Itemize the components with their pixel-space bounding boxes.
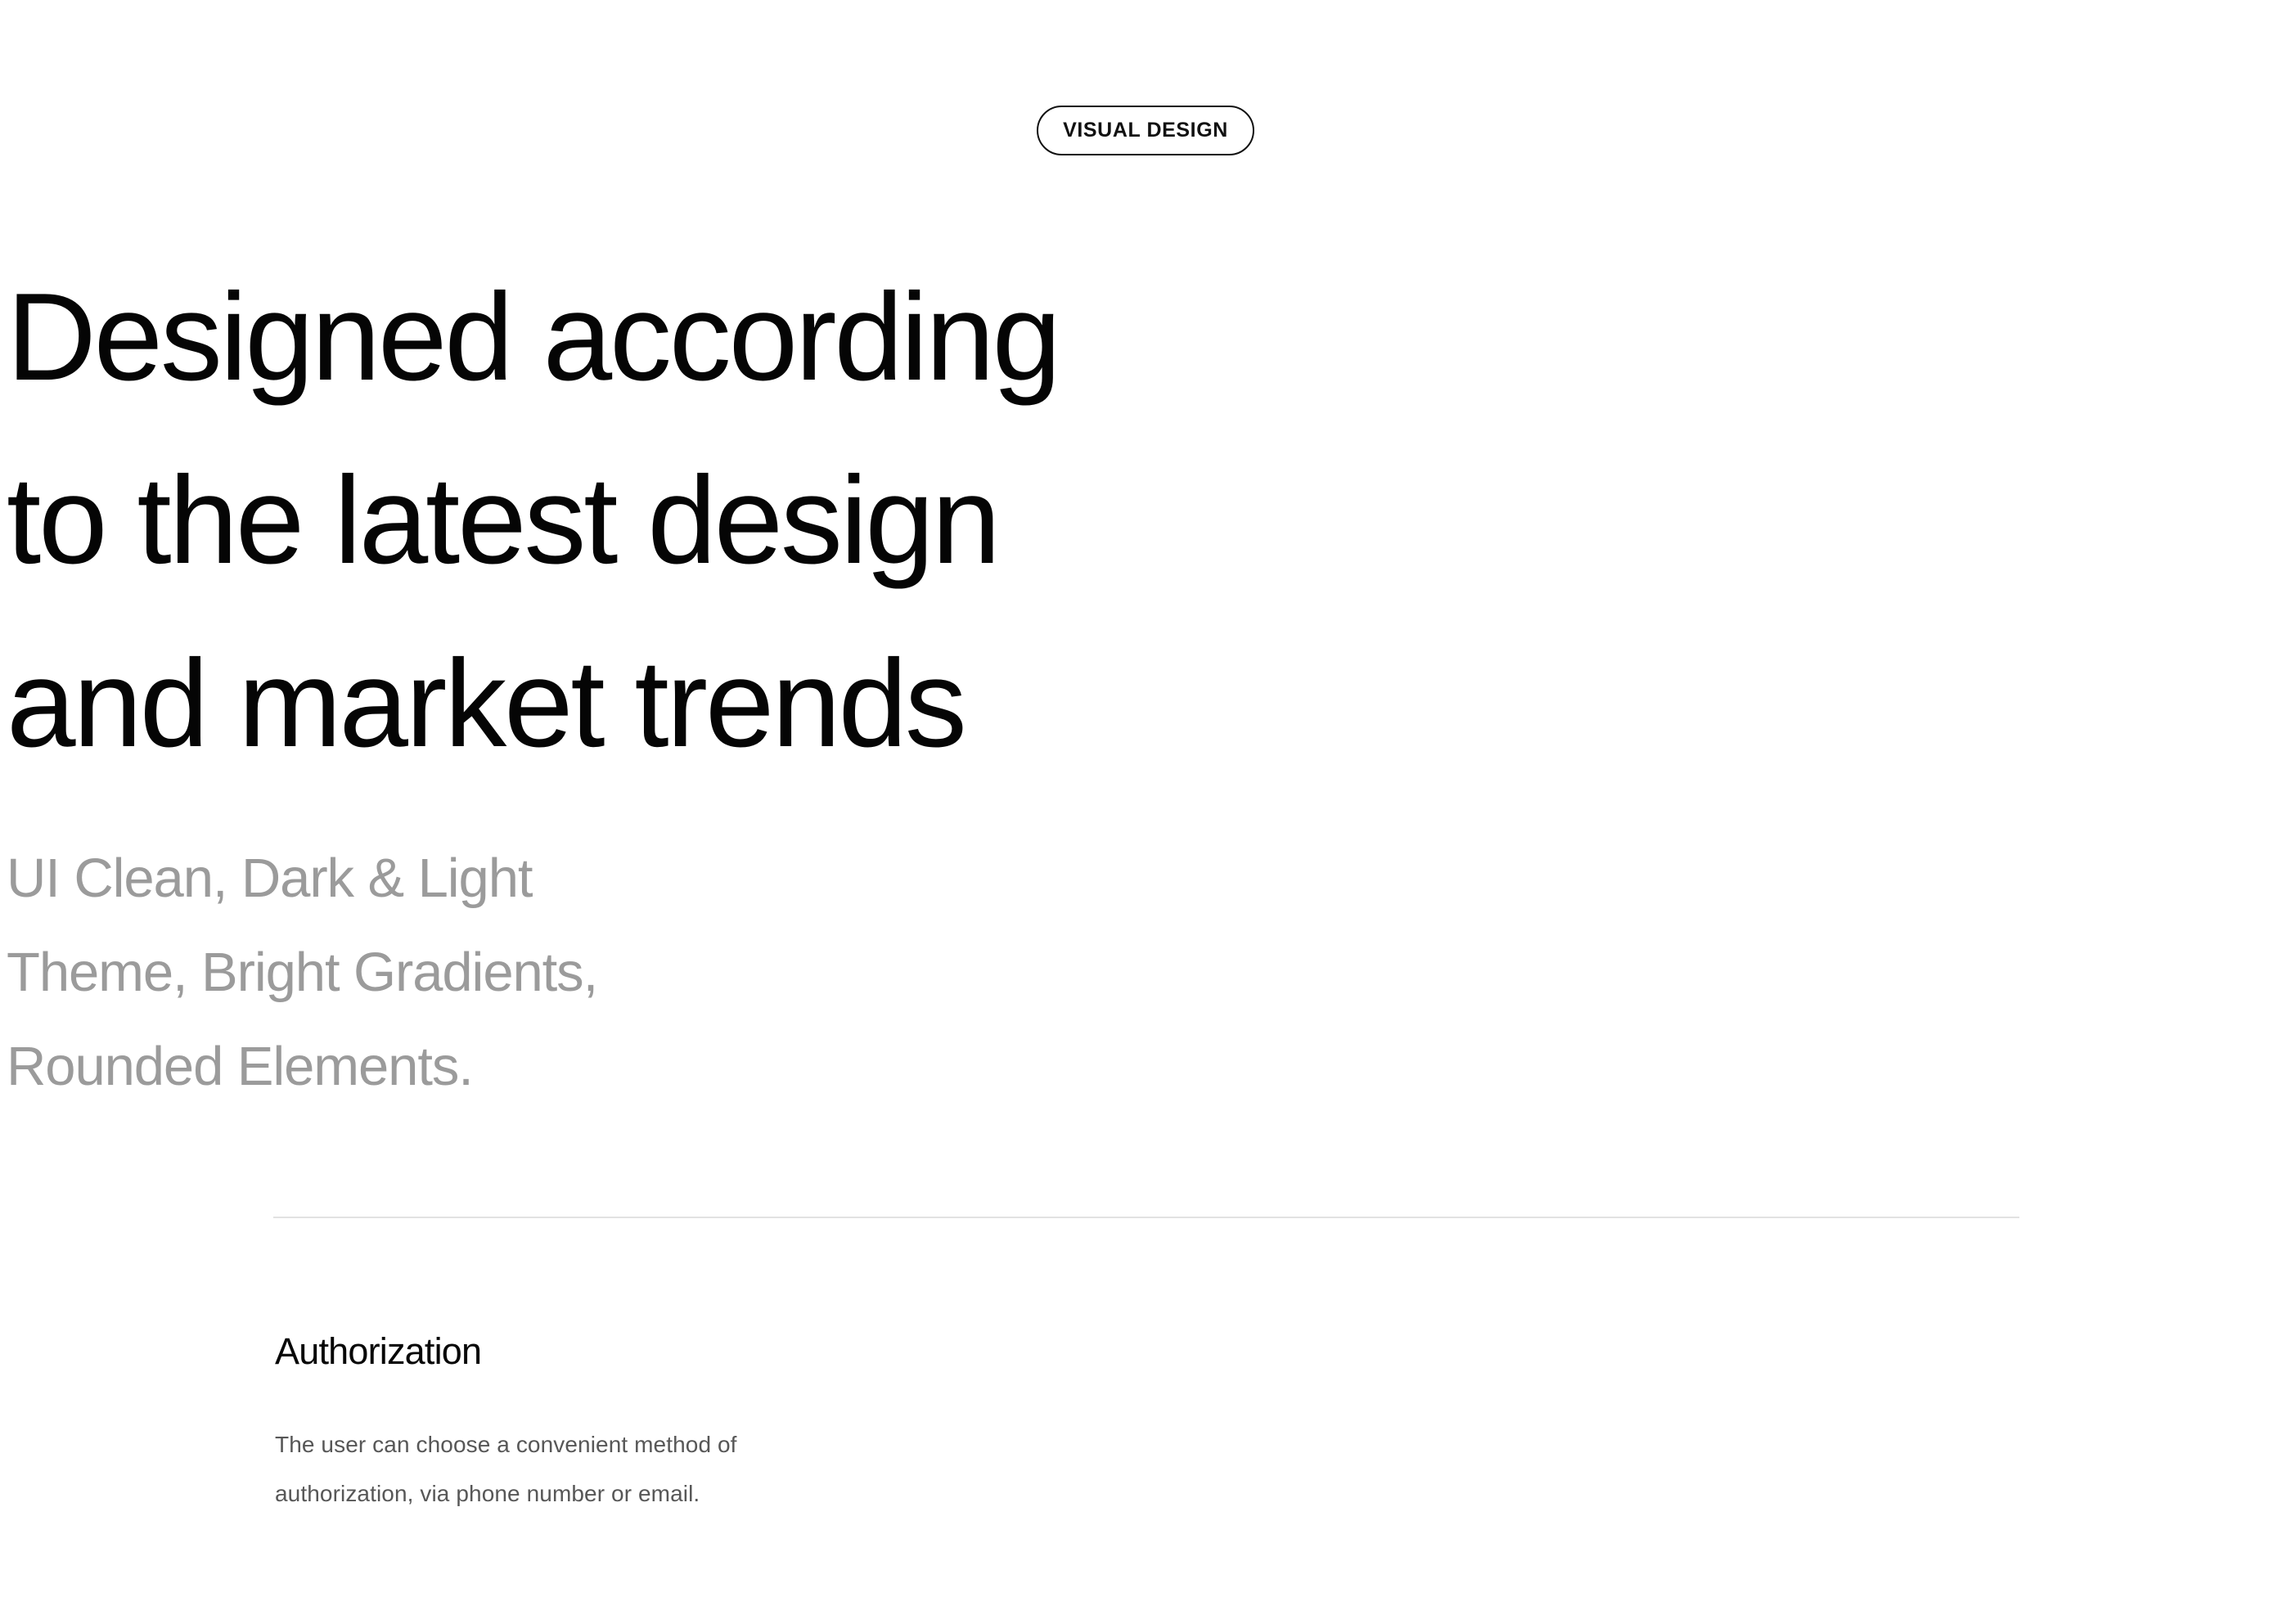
subtitle-line-2: Theme, Bright Gradients, bbox=[7, 925, 597, 1019]
authorization-section-body: The user can choose a convenient method … bbox=[275, 1420, 897, 1518]
headline-line-3: and market trends bbox=[7, 612, 1059, 795]
visual-design-badge[interactable]: VISUAL DESIGN bbox=[1037, 106, 1254, 155]
page-subtitle: UI Clean, Dark & Light Theme, Bright Gra… bbox=[7, 831, 597, 1113]
subtitle-line-1: UI Clean, Dark & Light bbox=[7, 831, 597, 925]
badge-row: VISUAL DESIGN bbox=[0, 106, 2291, 155]
visual-design-badge-label: VISUAL DESIGN bbox=[1063, 120, 1228, 141]
authorization-section-title: Authorization bbox=[275, 1329, 1257, 1374]
authorization-body-line-2: authorization, via phone number or email… bbox=[275, 1469, 897, 1518]
authorization-section: Authorization The user can choose a conv… bbox=[275, 1329, 1257, 1518]
authorization-body-line-1: The user can choose a convenient method … bbox=[275, 1420, 897, 1469]
headline-line-2: to the latest design bbox=[7, 429, 1059, 612]
subtitle-line-3: Rounded Elements. bbox=[7, 1019, 597, 1113]
section-divider bbox=[273, 1217, 2019, 1218]
page-title: Designed according to the latest design … bbox=[7, 245, 1059, 795]
headline-line-1: Designed according bbox=[7, 245, 1059, 429]
